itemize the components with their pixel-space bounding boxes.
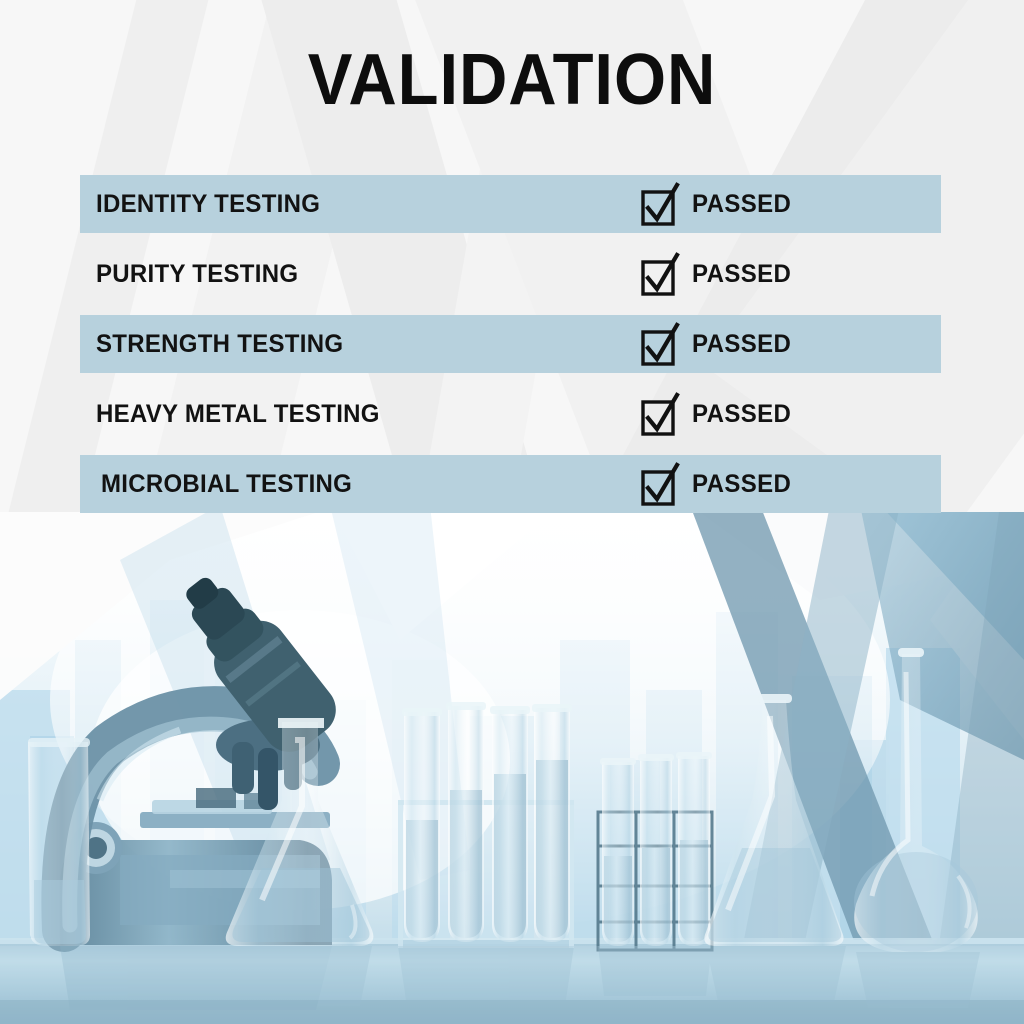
checkbox-checked-icon (642, 399, 672, 430)
checklist-row[interactable]: STRENGTH TESTING PASSED (80, 315, 941, 373)
infographic-canvas: VALIDATION IDENTITY TESTING PASSED PURIT… (0, 0, 1024, 1024)
test-name-label: MICROBIAL TESTING (101, 470, 352, 499)
status-label: PASSED (692, 400, 791, 429)
test-tube-rack-small (598, 752, 712, 950)
test-name-label: STRENGTH TESTING (96, 330, 343, 359)
checklist-row-status: PASSED (642, 315, 941, 373)
checklist-row[interactable]: IDENTITY TESTING PASSED (80, 175, 941, 233)
test-name-label: PURITY TESTING (96, 260, 298, 289)
test-name-label: IDENTITY TESTING (96, 190, 320, 219)
checklist-row[interactable]: MICROBIAL TESTING PASSED (80, 455, 941, 513)
page-title: VALIDATION (36, 44, 988, 116)
status-label: PASSED (692, 330, 791, 359)
graduated-cylinder-left (28, 738, 90, 946)
checkbox-checked-icon (642, 189, 672, 220)
status-label: PASSED (692, 470, 791, 499)
checklist-row-status: PASSED (642, 455, 941, 513)
validation-checklist: IDENTITY TESTING PASSED PURITY TESTING (80, 175, 941, 525)
test-name-label: HEAVY METAL TESTING (96, 400, 380, 429)
checkbox-checked-icon (642, 469, 672, 500)
checklist-row-status: PASSED (642, 175, 941, 233)
checklist-row-status: PASSED (642, 385, 941, 443)
checklist-row[interactable]: PURITY TESTING PASSED (80, 245, 941, 303)
checklist-row[interactable]: HEAVY METAL TESTING PASSED (80, 385, 941, 443)
checkbox-checked-icon (642, 329, 672, 360)
checklist-row-status: PASSED (642, 245, 941, 303)
status-label: PASSED (692, 190, 791, 219)
checkbox-checked-icon (642, 259, 672, 290)
status-label: PASSED (692, 260, 791, 289)
